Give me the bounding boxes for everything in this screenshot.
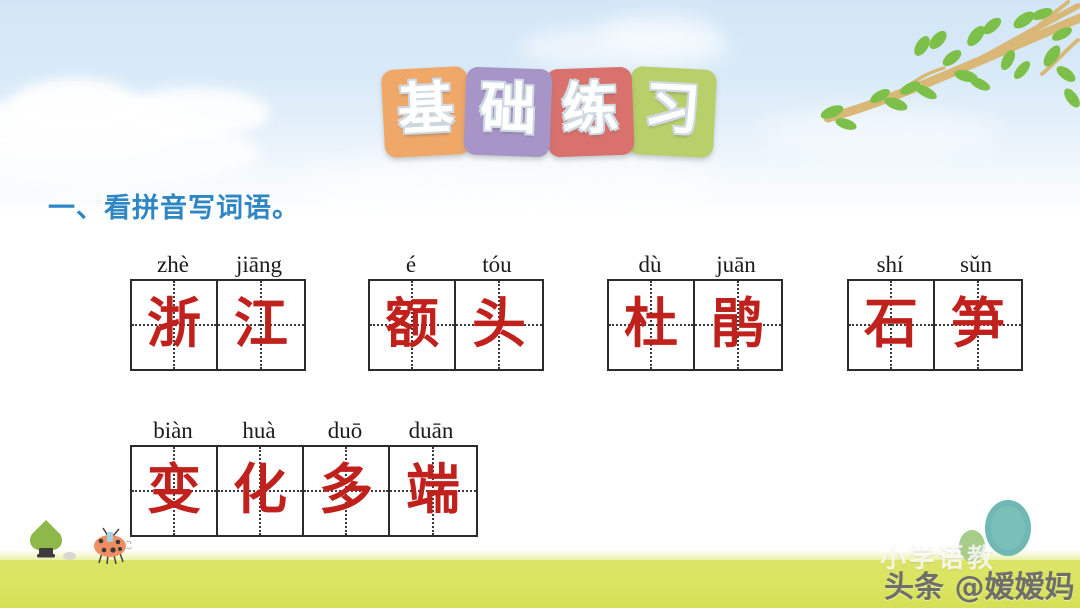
grid-cell[interactable]: 石 bbox=[849, 281, 935, 369]
pinyin-label: huà bbox=[216, 419, 302, 442]
grid-cell[interactable]: 头 bbox=[456, 281, 542, 369]
grid-cell[interactable]: 端 bbox=[390, 447, 476, 535]
bush-cluster-icon bbox=[942, 498, 1052, 568]
pinyin-label: duān bbox=[388, 419, 474, 442]
pinyin-row: dù juān bbox=[607, 242, 783, 276]
hanzi-char: 额 bbox=[385, 297, 439, 351]
title-tile-3: 练 bbox=[545, 67, 634, 158]
word-group-1: zhè jiāng 浙 江 bbox=[130, 242, 306, 371]
grid-cell[interactable]: 浙 bbox=[132, 281, 218, 369]
character-grid: 额 头 bbox=[368, 279, 544, 371]
ladybug-icon bbox=[88, 526, 132, 566]
pinyin-row: shí sǔn bbox=[847, 242, 1023, 276]
hanzi-char: 端 bbox=[406, 463, 460, 517]
pinyin-row: biàn huà duō duān bbox=[130, 408, 478, 442]
grid-cell[interactable]: 化 bbox=[218, 447, 304, 535]
character-grid: 浙 江 bbox=[130, 279, 306, 371]
pinyin-label: dù bbox=[607, 253, 693, 276]
pinyin-label: duō bbox=[302, 419, 388, 442]
pinyin-label: shí bbox=[847, 253, 933, 276]
hanzi-char: 化 bbox=[233, 463, 287, 517]
hanzi-char: 变 bbox=[147, 463, 201, 517]
title-char: 练 bbox=[561, 81, 619, 139]
tree-branch-icon bbox=[810, 0, 1080, 140]
grid-cell[interactable]: 鹃 bbox=[695, 281, 781, 369]
hanzi-char: 笋 bbox=[951, 297, 1005, 351]
grid-cell[interactable]: 多 bbox=[304, 447, 390, 535]
hanzi-char: 浙 bbox=[147, 297, 201, 351]
word-group-3: dù juān 杜 鹃 bbox=[607, 242, 783, 371]
title-tile-1: 基 bbox=[381, 66, 471, 158]
word-group-5: biàn huà duō duān 变 化 多 端 bbox=[130, 408, 478, 537]
pinyin-label: é bbox=[368, 253, 454, 276]
title-char: 习 bbox=[643, 81, 702, 140]
title-tile-4: 习 bbox=[627, 66, 717, 158]
hanzi-char: 多 bbox=[319, 463, 373, 517]
pinyin-row: zhè jiāng bbox=[130, 242, 306, 276]
title-tile-2: 础 bbox=[463, 67, 552, 158]
grass-fade bbox=[0, 550, 1080, 560]
grass-strip bbox=[0, 560, 1080, 608]
word-group-2: é tóu 额 头 bbox=[368, 242, 544, 371]
cloud-shape bbox=[600, 14, 720, 54]
word-group-4: shí sǔn 石 笋 bbox=[847, 242, 1023, 371]
slide-title: 基 础 练 习 bbox=[383, 68, 715, 156]
cloud-shape bbox=[300, 150, 720, 210]
character-grid: 杜 鹃 bbox=[607, 279, 783, 371]
hanzi-char: 石 bbox=[864, 297, 918, 351]
hanzi-char: 江 bbox=[234, 297, 288, 351]
cloud-shape bbox=[120, 88, 270, 138]
pinyin-label: tóu bbox=[454, 253, 540, 276]
title-char: 础 bbox=[479, 81, 537, 139]
cloud-shape bbox=[10, 78, 140, 134]
grid-cell[interactable]: 额 bbox=[370, 281, 456, 369]
hanzi-char: 鹃 bbox=[711, 297, 765, 351]
worksheet-slide: 基 础 练 习 一、看拼音写词语。 zhè jiāng 浙 江 é bbox=[0, 0, 1080, 608]
pinyin-label: jiāng bbox=[216, 253, 302, 276]
pinyin-label: juān bbox=[693, 253, 779, 276]
grid-cell[interactable]: 杜 bbox=[609, 281, 695, 369]
section-heading: 一、看拼音写词语。 bbox=[48, 186, 300, 225]
bush-icon bbox=[26, 518, 66, 562]
grid-cell[interactable]: 江 bbox=[218, 281, 304, 369]
pinyin-label: zhè bbox=[130, 253, 216, 276]
hanzi-char: 头 bbox=[472, 297, 526, 351]
grid-cell[interactable]: 笋 bbox=[935, 281, 1021, 369]
character-grid: 石 笋 bbox=[847, 279, 1023, 371]
pinyin-label: sǔn bbox=[933, 253, 1019, 276]
character-grid: 变 化 多 端 bbox=[130, 445, 478, 537]
pinyin-label: biàn bbox=[130, 419, 216, 442]
grid-cell[interactable]: 变 bbox=[132, 447, 218, 535]
pebble-icon bbox=[63, 552, 76, 560]
pinyin-row: é tóu bbox=[368, 242, 544, 276]
title-char: 基 bbox=[396, 81, 455, 140]
hanzi-char: 杜 bbox=[624, 297, 678, 351]
